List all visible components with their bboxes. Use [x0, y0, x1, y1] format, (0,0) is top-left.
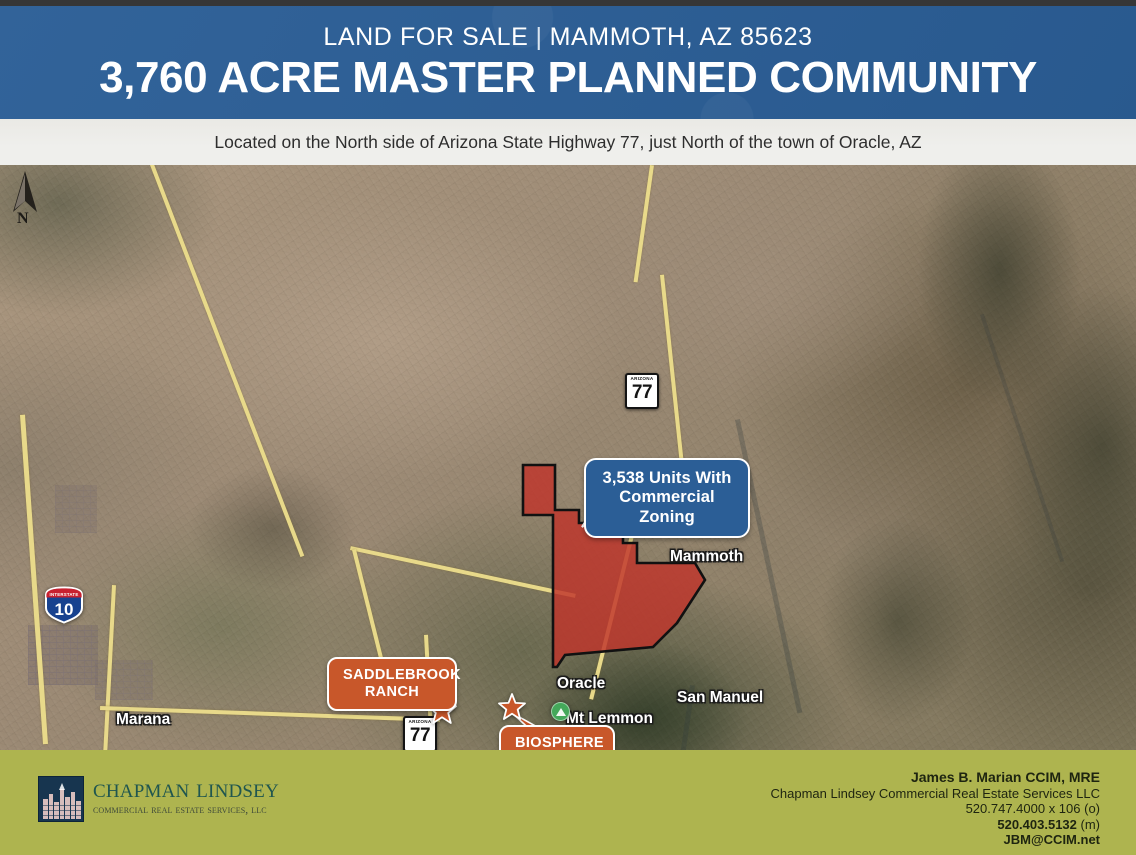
north-arrow-label: N	[17, 210, 29, 228]
place-label-mammoth: Mammoth	[670, 548, 743, 566]
contact-mobile-suffix: (m)	[1077, 817, 1100, 832]
shield-interstate-10[interactable]: INTERSTATE 10	[44, 586, 84, 624]
svg-text:INTERSTATE: INTERSTATE	[50, 592, 79, 597]
top-edge-strip	[0, 0, 1136, 6]
urban-area-patch-marana-2	[55, 485, 97, 533]
contact-mobile-number: 520.403.5132	[997, 817, 1077, 832]
footer-bar: Chapman Lindsey Commercial Real Estate S…	[0, 750, 1136, 855]
north-arrow: N	[8, 170, 42, 232]
shield-az-77-north-number: 77	[632, 382, 652, 403]
subtitle-text: Located on the North side of Arizona Sta…	[214, 132, 921, 153]
contact-email[interactable]: JBM@CCIM.net	[771, 832, 1100, 848]
flyer-page: LAND FOR SALE|MAMMOTH, AZ 85623 3,760 AC…	[0, 0, 1136, 855]
saddlebrook-ranch-callout[interactable]: SADDLEBROOK RANCH	[327, 657, 457, 711]
contact-agent-name: James B. Marian CCIM, MRE	[771, 770, 1100, 786]
svg-text:10: 10	[55, 600, 74, 619]
aerial-map[interactable]: N 3,538 Units With Commercial Zoning SAD…	[0, 165, 1136, 750]
contact-office-phone[interactable]: 520.747.4000 x 106 (o)	[771, 801, 1100, 817]
biosphere-callout[interactable]: BIOSPHERE 2	[499, 725, 615, 750]
header-eyebrow-right: MAMMOTH, AZ 85623	[550, 23, 813, 51]
contact-block: James B. Marian CCIM, MRE Chapman Lindse…	[771, 770, 1100, 848]
contact-mobile-phone[interactable]: 520.403.5132 (m)	[771, 817, 1100, 833]
company-logo[interactable]: Chapman Lindsey Commercial Real Estate S…	[38, 774, 279, 822]
mt-lemmon-park-marker-icon	[551, 702, 570, 721]
place-label-oracle: Oracle	[557, 675, 605, 693]
shield-az-77-south-number: 77	[410, 725, 430, 746]
logo-skyline-icon	[38, 776, 84, 822]
subtitle-band: Located on the North side of Arizona Sta…	[0, 119, 1136, 165]
logo-company-tagline: Commercial Real Estate Services, LLC	[93, 803, 279, 817]
contact-company-name: Chapman Lindsey Commercial Real Estate S…	[771, 786, 1100, 802]
urban-area-patch-marana-3	[95, 660, 153, 700]
shield-az-77-north[interactable]: ARIZONA 77	[625, 373, 659, 409]
logo-company-name: Chapman Lindsey	[93, 774, 279, 802]
header-eyebrow-separator: |	[535, 23, 542, 52]
north-arrow-icon	[8, 170, 42, 215]
logo-wordmark: Chapman Lindsey Commercial Real Estate S…	[93, 774, 279, 817]
biosphere-star-icon	[498, 693, 526, 721]
page-title: 3,760 ACRE MASTER PLANNED COMMUNITY	[99, 55, 1037, 101]
header-eyebrow-left: LAND FOR SALE	[323, 23, 528, 51]
place-label-marana: Marana	[116, 711, 170, 729]
header-eyebrow: LAND FOR SALE|MAMMOTH, AZ 85623	[323, 23, 812, 52]
place-label-san-manuel: San Manuel	[677, 689, 763, 707]
header-banner: LAND FOR SALE|MAMMOTH, AZ 85623 3,760 AC…	[0, 6, 1136, 119]
zoning-callout[interactable]: 3,538 Units With Commercial Zoning	[584, 458, 750, 538]
